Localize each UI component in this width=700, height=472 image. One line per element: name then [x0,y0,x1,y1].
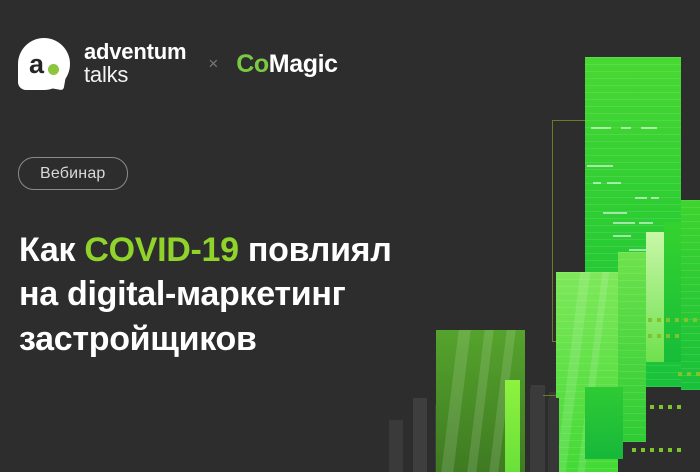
brand-subtitle: talks [84,64,186,87]
gray-tower [413,398,427,472]
right-green-tower [681,200,700,390]
brand-header: a adventum talks × CoMagic [18,38,338,90]
bright-green-column [664,222,681,362]
window-dots-row [678,372,700,376]
window-dots-row [650,405,681,409]
page-title: Как COVID-19 повлиял на digital-маркетин… [19,228,392,362]
pale-green-column [646,232,664,362]
slim-gray-bar [530,388,543,472]
slim-gray-bar [548,398,559,472]
window-dots-row [648,334,679,338]
headline-line3: застройщиков [19,320,257,358]
logo-green-dot [48,64,59,75]
window-dots-row [648,318,700,322]
webinar-badge: Вебинар [18,157,128,190]
gray-tower [389,420,403,472]
headline-line1-after: повлиял [239,231,392,269]
center-green-column [585,387,623,459]
collab-cross-icon: × [208,54,218,74]
webinar-promo-banner: a adventum talks × CoMagic Вебинар Как C… [0,0,700,472]
comagic-wordmark: CoMagic [236,50,337,79]
headline-line2: на digital-маркетинг [19,275,345,313]
webinar-badge-label: Вебинар [40,165,106,183]
window-dots-row [632,448,681,452]
comagic-magic: Magic [269,50,338,78]
adventum-wordmark: adventum talks [84,41,186,87]
headline-highlight: COVID-19 [84,231,238,269]
comagic-co: Co [236,50,269,78]
neon-green-bar [505,380,520,472]
brand-name: adventum [84,41,186,64]
adventum-logo-icon: a [18,38,70,90]
headline-line1-before: Как [19,231,84,269]
